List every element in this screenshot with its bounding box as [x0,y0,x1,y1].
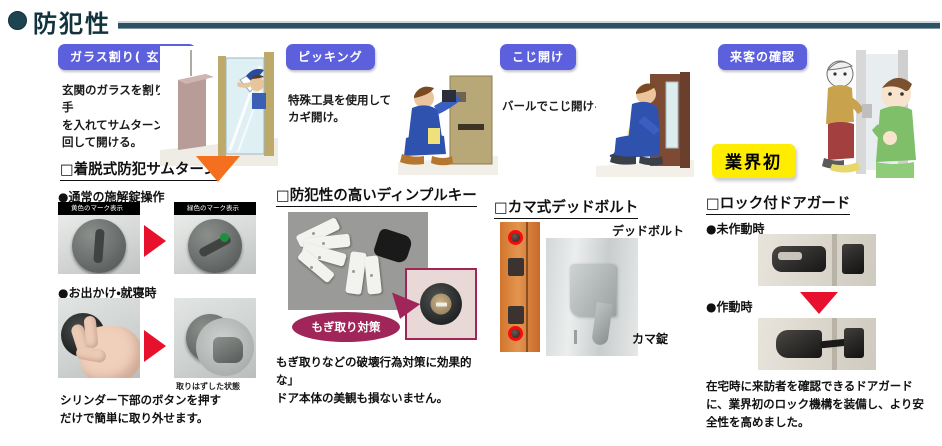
caption-removed-state: 取りはずした状態 [176,381,240,392]
heading-detachable-thumbturn: □着脱式防犯サムターン [60,158,218,181]
edge-line [526,222,528,352]
badge-prying: こじ開け [500,44,576,70]
caption-yellow-mark: 黄色のマーク表示 [58,202,140,215]
thumbturn-lever [93,228,104,263]
dimple-dot-1 [312,232,315,235]
note-picking: もぎ取りなどの破壊行為対策に効果的な」 ドア本体の美観も損ないません。 [276,354,491,407]
note-glass-break: シリンダー下部のボタンを押す だけで簡単に取り外せます。 [60,392,270,428]
page-title: 防犯性 [33,4,111,39]
entrance-door-glass-break-illustration [160,46,278,170]
filled-circle-icon [8,11,27,30]
cylinder-core [431,294,452,315]
photo-thumbturn-locked: 緑色のマーク表示 [174,202,256,274]
dimple-dot-4 [310,266,313,269]
note-visitor-check: 在宅時に来訪者を確認できるドアガード に、業界初のロック機構を装備し、より安 全… [706,378,936,431]
door-gap-seam [832,234,837,286]
column-prying: こじ開け [500,44,576,70]
photo-thumbturn-removed [174,298,256,378]
down-arrow-orange-icon [196,156,240,182]
bolt-slot-lower [508,306,524,324]
bolt-slot-upper [508,258,524,276]
right-arrow-red-icon-1 [144,225,166,257]
thumbturn-plate [58,215,140,274]
column-picking: ピッキング [286,44,375,70]
dimple-dot-6 [370,274,373,277]
dimple-dot-2 [322,242,325,245]
thumbturn-knob [72,219,126,273]
caption-green-mark: 緑色のマーク表示 [174,202,256,215]
highlight-circle-upper [508,230,523,245]
burglar-prying-door-illustration [596,72,694,181]
keyway-slot [436,302,447,306]
frame-screw-line [574,330,577,344]
dimple-dot-3 [318,256,321,259]
badge-visitor-check: 来客の確認 [718,44,807,70]
guard-arm-active [776,330,822,358]
thumbturn-plate-locked [174,215,256,274]
slide-header: 防犯性 [0,0,942,40]
guard-arm-slot [778,252,802,260]
heading-dimple-key: □防犯性の高いディンプルキー [276,184,477,207]
badge-picking: ピッキング [286,44,375,70]
thumbturn-knob-locked [188,219,242,273]
header-divider [118,21,940,29]
label-active-state: ●作動時 [706,298,752,315]
burglar-picking-lock-illustration [398,70,498,179]
photo-thumbturn-unlocked: 黄色のマーク表示 [58,202,140,274]
green-mark-indicator [220,233,229,242]
heading-hook-deadbolt: □カマ式デッドボルト [494,196,638,219]
right-arrow-red-icon-2 [144,330,166,362]
guard-keeper-active [844,328,864,358]
callout-anti-snap: もぎ取り対策 [292,312,400,342]
door-guard-inactive-photo [758,234,876,286]
label-inactive-state: ●未作動時 [706,220,764,237]
door-edge-deadbolt-strip-photo [500,222,540,352]
door-guard-active-photo [758,318,876,370]
lead-picking: 特殊工具を使用して カギ開け。 [288,92,408,127]
hook-bolt-close-up-photo [546,238,638,356]
badge-industry-first: 業界初 [712,144,795,178]
inset-removed-part [196,318,254,376]
cylinder-disc [420,283,462,325]
dimple-dot-5 [352,270,355,273]
visitor-at-door-illustration [810,46,930,186]
photo-hand-removing-thumbturn [58,298,140,378]
column-visitor-check: 来客の確認 [718,44,807,70]
down-arrow-red-icon [800,292,838,314]
label-hook-lock: カマ錠 [632,330,668,347]
guard-keeper-inactive [842,244,864,274]
removed-thumbturn-part [213,337,243,363]
heading-door-guard-with-lock: □ロック付ドアガード [706,192,850,215]
label-deadbolt: デッドボルト [612,222,684,239]
highlight-circle-lower [508,326,523,341]
slide-root: 防犯性 ガラス割り( 玄関 ) 玄関のガラスを割り、手 を入れてサムターンを 回… [0,0,942,446]
